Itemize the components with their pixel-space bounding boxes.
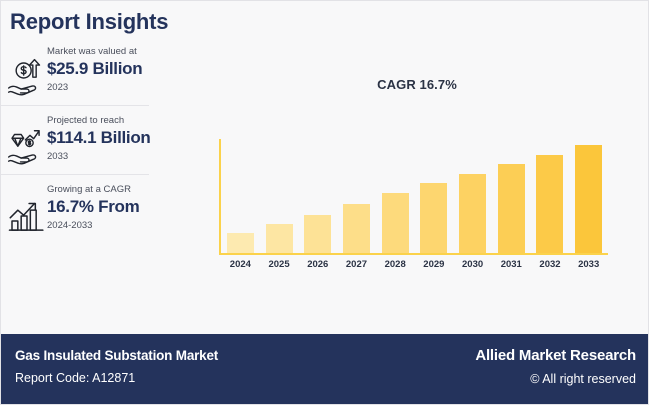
bar-slot [569, 139, 608, 253]
bar-slot [415, 139, 454, 253]
stat-value: 16.7% From [47, 197, 139, 217]
stats-column: Market was valued at $25.9 Billion 2023 [1, 41, 213, 331]
stat-text: Projected to reach $114.1 Billion 2033 [47, 110, 151, 164]
stat-card-projected-reach: Projected to reach $114.1 Billion 2033 [1, 110, 213, 168]
x-label-2032: 2032 [531, 259, 570, 270]
bar-slot [337, 139, 376, 253]
stat-label: Growing at a CAGR [47, 183, 139, 197]
stat-card-market-valued: Market was valued at $25.9 Billion 2023 [1, 41, 213, 99]
footer-brand-name: Allied Market Research [475, 346, 636, 366]
x-label-2026: 2026 [298, 259, 337, 270]
stats-divider [1, 105, 149, 106]
stat-sub: 2024-2033 [47, 217, 139, 233]
bar-2031 [498, 164, 525, 253]
footer-copyright: © All right reserved [475, 366, 636, 389]
hand-coin-growth-icon [7, 57, 47, 99]
bar-2030 [459, 174, 486, 253]
page-title: Report Insights [10, 9, 168, 35]
stat-label: Projected to reach [47, 114, 151, 128]
footer-right: Allied Market Research © All right reser… [475, 346, 636, 389]
stats-divider [1, 174, 149, 175]
bar-chart-plot-area [219, 139, 611, 255]
bar-slot [453, 139, 492, 253]
footer-bar: Gas Insulated Substation Market Report C… [1, 334, 648, 404]
bar-2033 [575, 145, 602, 253]
x-label-2027: 2027 [337, 259, 376, 270]
bar-slot [260, 139, 299, 253]
stat-value: $25.9 Billion [47, 59, 142, 79]
bar-slot [298, 139, 337, 253]
bar-slot [376, 139, 415, 253]
bar-2029 [420, 183, 447, 253]
stat-text: Market was valued at $25.9 Billion 2023 [47, 41, 142, 95]
bar-slot [221, 139, 260, 253]
bar-2027 [343, 204, 370, 253]
x-label-2031: 2031 [492, 259, 531, 270]
stat-sub: 2033 [47, 148, 151, 164]
x-axis-tick-labels: 2024202520262027202820292030203120322033 [221, 259, 608, 270]
x-label-2025: 2025 [260, 259, 299, 270]
bar-slot [531, 139, 570, 253]
footer-report-code: Report Code: A12871 [15, 366, 218, 388]
chart-title: CAGR 16.7% [213, 77, 621, 92]
footer-left: Gas Insulated Substation Market Report C… [15, 346, 218, 388]
x-label-2024: 2024 [221, 259, 260, 270]
bar-chart-arrow-up-icon [7, 195, 47, 237]
x-label-2029: 2029 [415, 259, 454, 270]
x-label-2030: 2030 [453, 259, 492, 270]
bar-2025 [266, 224, 293, 253]
x-axis-line [219, 253, 608, 255]
x-label-2028: 2028 [376, 259, 415, 270]
bar-slot [492, 139, 531, 253]
stat-sub: 2023 [47, 79, 142, 95]
stat-value: $114.1 Billion [47, 128, 151, 148]
footer-report-name: Gas Insulated Substation Market [15, 346, 218, 366]
stat-label: Market was valued at [47, 45, 142, 59]
hand-diamond-growth-icon [7, 126, 47, 168]
bar-series [221, 139, 608, 253]
chart-panel: CAGR 16.7% 20242025202620272028202920302… [213, 41, 649, 333]
stat-card-cagr-growth: Growing at a CAGR 16.7% From 2024-2033 [1, 179, 213, 237]
bar-2026 [304, 215, 331, 253]
bar-2028 [382, 193, 409, 253]
bar-2032 [536, 155, 563, 253]
stat-text: Growing at a CAGR 16.7% From 2024-2033 [47, 179, 139, 233]
bar-2024 [227, 233, 254, 253]
report-insights-infographic: Report Insights Market was valued at $25… [0, 0, 649, 405]
x-label-2033: 2033 [569, 259, 608, 270]
